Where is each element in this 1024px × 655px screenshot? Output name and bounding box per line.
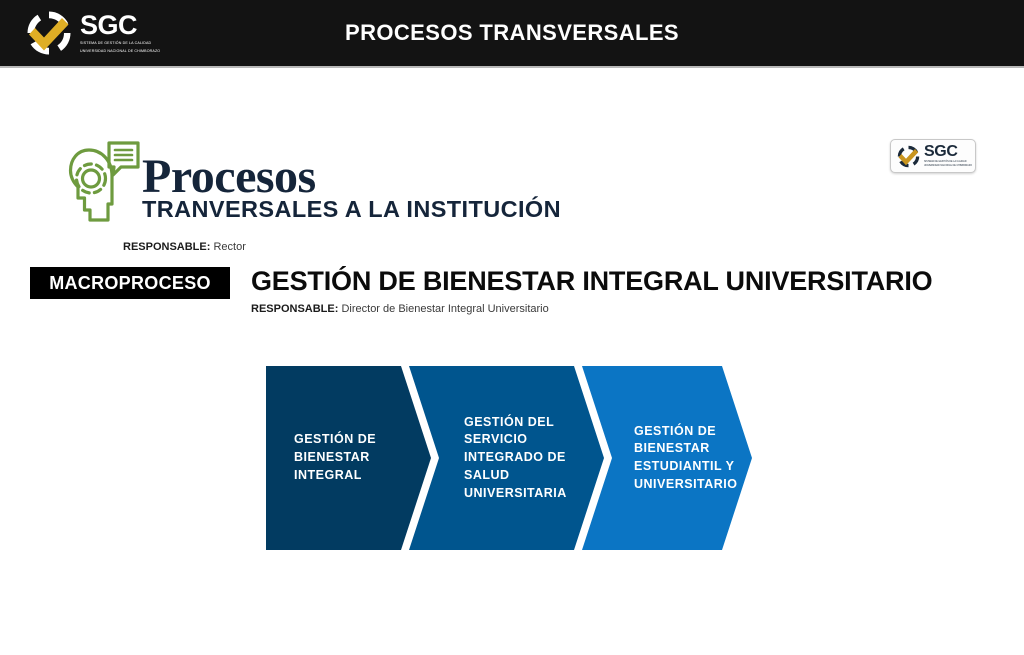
sgc-badge-text: SGC SISTEMA DE GESTIÓN DE LA CALIDAD UNI… bbox=[924, 144, 972, 168]
process-step-2[interactable]: GESTIÓN DEL SERVICIO INTEGRADO DE SALUD … bbox=[409, 366, 604, 550]
process-step-1-label: GESTIÓN DE BIENESTAR INTEGRAL bbox=[294, 431, 399, 484]
process-chevron-flow: GESTIÓN DE BIENESTAR INTEGRAL GESTIÓN DE… bbox=[266, 366, 752, 550]
process-step-2-label: GESTIÓN DEL SERVICIO INTEGRADO DE SALUD … bbox=[464, 414, 584, 503]
procesos-transversales-logo: Procesos TRANVERSALES A LA INSTITUCIÓN R… bbox=[68, 138, 568, 232]
process-step-3[interactable]: GESTIÓN DE BIENESTAR ESTUDIANTIL Y UNIVE… bbox=[582, 366, 752, 550]
macroproceso-tag: MACROPROCESO bbox=[30, 267, 230, 299]
sgc-badge: SGC SISTEMA DE GESTIÓN DE LA CALIDAD UNI… bbox=[890, 139, 976, 173]
responsible-rector: RESPONSABLE: Rector bbox=[123, 241, 246, 253]
procesos-word-sans: TRANVERSALES A LA INSTITUCIÓN bbox=[142, 196, 561, 222]
slide-canvas: PROCESOS TRANSVERSALES SGC SISTEMA DE GE… bbox=[0, 0, 1024, 655]
procesos-logo-row: Procesos TRANVERSALES A LA INSTITUCIÓN bbox=[68, 138, 568, 232]
responsible-director: RESPONSABLE: Director de Bienestar Integ… bbox=[251, 303, 549, 315]
process-step-1[interactable]: GESTIÓN DE BIENESTAR INTEGRAL bbox=[266, 366, 431, 550]
sgc-logo-text: SGC SISTEMA DE GESTIÓN DE LA CALIDAD UNI… bbox=[80, 12, 160, 53]
sgc-check-circle-icon bbox=[24, 8, 74, 58]
sgc-subtitle-line-1: SISTEMA DE GESTIÓN DE LA CALIDAD bbox=[80, 41, 160, 46]
sgc-badge-subtitle-line-2: UNIVERSIDAD NACIONAL DE CHIMBORAZO bbox=[924, 165, 972, 168]
process-step-3-label: GESTIÓN DE BIENESTAR ESTUDIANTIL Y UNIVE… bbox=[634, 423, 752, 494]
responsible-label: RESPONSABLE: bbox=[123, 241, 210, 253]
responsible-value: Rector bbox=[213, 241, 245, 253]
sgc-subtitle-line-2: UNIVERSIDAD NACIONAL DE CHIMBORAZO bbox=[80, 49, 160, 54]
procesos-logo-wordmark: Procesos TRANVERSALES A LA INSTITUCIÓN bbox=[142, 156, 568, 222]
sgc-badge-check-circle-icon bbox=[896, 144, 921, 169]
header-divider bbox=[0, 66, 1024, 68]
macroproceso-title: GESTIÓN DE BIENESTAR INTEGRAL UNIVERSITA… bbox=[251, 266, 932, 297]
sgc-badge-acronym: SGC bbox=[924, 144, 972, 160]
responsible-value-2: Director de Bienestar Integral Universit… bbox=[341, 303, 548, 315]
responsible-label-2: RESPONSABLE: bbox=[251, 303, 338, 315]
sgc-logo: SGC SISTEMA DE GESTIÓN DE LA CALIDAD UNI… bbox=[24, 4, 179, 62]
head-gear-speech-icon bbox=[68, 140, 140, 232]
sgc-badge-subtitle-line-1: SISTEMA DE GESTIÓN DE LA CALIDAD bbox=[924, 161, 972, 164]
sgc-acronym: SGC bbox=[80, 12, 160, 39]
